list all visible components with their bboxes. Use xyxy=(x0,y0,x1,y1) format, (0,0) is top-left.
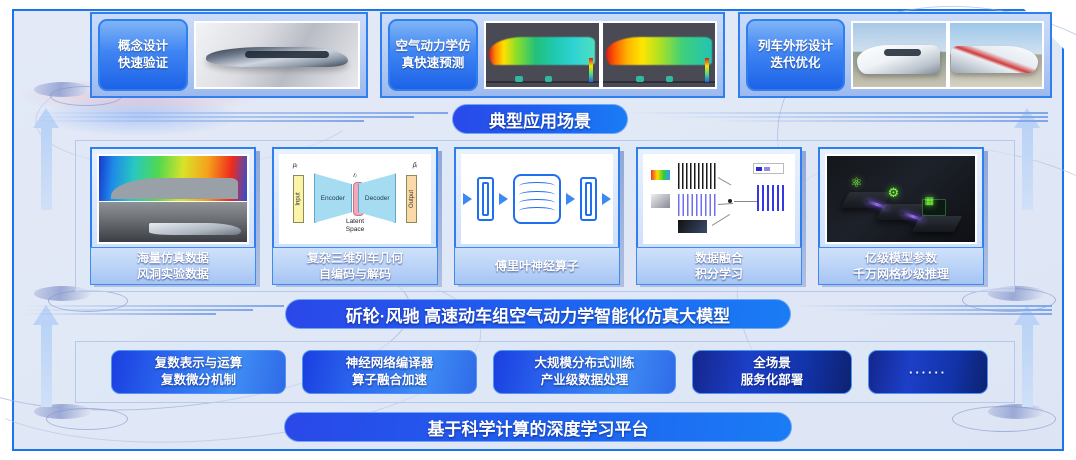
gear-icon: ⚙ xyxy=(888,185,900,201)
scenario-card-concept-design[interactable]: 概念设计 快速验证 xyxy=(90,12,368,98)
flow-arrow-up-left-upper xyxy=(33,108,59,210)
scenario-label-line1: 列车外形设计 xyxy=(758,38,833,55)
banner-deco-lines-right xyxy=(628,112,1048,122)
caption-line2: 千万网格秒级推理 xyxy=(853,266,949,282)
cfd-contour-image-1 xyxy=(486,23,599,87)
train-photo-2 xyxy=(950,23,1043,87)
cfd-contour-image-2 xyxy=(603,23,716,87)
arrow-right-icon xyxy=(602,193,611,205)
molecule-icon: ⚛ xyxy=(851,175,863,191)
scenario-card-shape-optimization[interactable]: 列车外形设计 迭代优化 xyxy=(738,12,1052,98)
capability-caption-fusion: 数据融合 积分学习 xyxy=(636,247,802,285)
arrow-right-icon xyxy=(499,193,508,205)
scenario-banner: 典型应用场景 xyxy=(452,104,628,134)
banner-deco-lines-left xyxy=(28,112,448,122)
autoencoder-symbol-latent: rⱼ xyxy=(353,171,356,179)
platform-chip-deployment[interactable]: 全场景 服务化部署 xyxy=(692,350,852,394)
capability-card-fno[interactable]: 傅里叶神经算子 xyxy=(454,147,624,287)
autoencoder-symbol-input: pᵢ xyxy=(293,162,297,169)
caption-line2: 积分学习 xyxy=(695,266,743,282)
application-scenarios-row: 概念设计 快速验证 空气动力学仿 真快速预测 xyxy=(90,12,1052,98)
fourier-operator-diagram xyxy=(461,154,613,244)
caption-line1: 亿级模型参数 xyxy=(865,250,937,266)
capability-caption-data: 海量仿真数据 风洞实验数据 xyxy=(90,247,256,285)
scenario-label-line1: 空气动力学仿 xyxy=(395,38,470,55)
scenario-label-line2: 真快速预测 xyxy=(402,55,465,72)
scenario-label-line2: 快速验证 xyxy=(118,55,168,72)
train-photo-1 xyxy=(853,23,946,87)
autoencoder-decoder-block: Decoder xyxy=(358,173,396,223)
platform-capability-row: 复数表示与运算 复数微分机制 神经网络编译器 算子融合加速 大规模分布式训练 产… xyxy=(75,341,1015,403)
ai-infrastructure-image: ⚛ ⚙ ▦ xyxy=(825,154,977,244)
arrow-right-icon xyxy=(463,193,472,205)
capability-caption-inference: 亿级模型参数 千万网格秒级推理 xyxy=(818,247,984,285)
chip-line1: 复数表示与运算 xyxy=(155,355,243,372)
model-banner-title: 斫轮·风驰 高速动车组空气动力学智能化仿真大模型 xyxy=(346,302,730,327)
autoencoder-input-block: Input xyxy=(293,175,304,223)
flow-arrow-up-right-lower xyxy=(1014,305,1040,407)
platform-banner-title: 基于科学计算的深度学习平台 xyxy=(428,415,649,440)
caption-line1: 傅里叶神经算子 xyxy=(495,258,579,274)
scenario-label-concept-design: 概念设计 快速验证 xyxy=(98,19,188,91)
capability-caption-autoencoder: 复杂三维列车几何 自编码与解码 xyxy=(272,247,438,285)
capability-card-data[interactable]: 海量仿真数据 风洞实验数据 xyxy=(90,147,260,287)
capability-caption-fno: 傅里叶神经算子 xyxy=(454,247,620,285)
ripple-ring xyxy=(46,408,128,430)
capability-card-inference[interactable]: ⚛ ⚙ ▦ 亿级模型参数 千万网格秒级推理 xyxy=(818,147,988,287)
scenario-banner-title: 典型应用场景 xyxy=(489,107,591,132)
fourier-wave-box xyxy=(513,174,561,224)
platform-chip-more[interactable]: ······ xyxy=(868,350,988,394)
autoencoder-latent-caption: Latent Space xyxy=(346,218,364,234)
scenario-label-line1: 概念设计 xyxy=(118,38,168,55)
fno-output-block xyxy=(580,177,597,221)
autoencoder-output-label: Output xyxy=(409,190,415,208)
cfd-wind-tunnel-image xyxy=(97,154,249,244)
fno-input-block xyxy=(477,177,494,221)
model-capability-row: 海量仿真数据 风洞实验数据 pᵢ rⱼ p̃ᵢ Input Encoder xyxy=(75,140,1015,292)
flow-arrow-up-right-upper xyxy=(1014,108,1040,210)
chip-line1: 全场景 xyxy=(753,355,791,372)
scenario-label-shape-optimization: 列车外形设计 迭代优化 xyxy=(746,19,845,91)
scenario-label-line2: 迭代优化 xyxy=(770,55,820,72)
autoencoder-diagram: pᵢ rⱼ p̃ᵢ Input Encoder Decoder Output xyxy=(279,154,431,244)
chart-icon: ▦ xyxy=(925,196,934,207)
model-banner-deco-right xyxy=(792,305,1052,315)
ellipsis-icon: ······ xyxy=(909,368,947,377)
infographic-root: 概念设计 快速验证 空气动力学仿 真快速预测 xyxy=(0,0,1076,460)
concept-train-render-image xyxy=(196,23,358,87)
autoencoder-encoder-block: Encoder xyxy=(314,173,352,223)
scenario-label-aero-prediction: 空气动力学仿 真快速预测 xyxy=(388,19,478,91)
model-banner-deco-left xyxy=(24,305,284,315)
model-banner: 斫轮·风驰 高速动车组空气动力学智能化仿真大模型 xyxy=(285,299,791,329)
scenario-image-shape-optimization xyxy=(851,21,1044,89)
caption-line2: 风洞实验数据 xyxy=(137,266,209,282)
chip-line2: 算子融合加速 xyxy=(352,372,427,389)
caption-line1: 复杂三维列车几何 xyxy=(307,250,403,266)
platform-chip-compiler[interactable]: 神经网络编译器 算子融合加速 xyxy=(302,350,477,394)
autoencoder-encoder-label: Encoder xyxy=(321,195,345,202)
scenario-image-concept-design xyxy=(194,21,360,89)
platform-chip-distributed-training[interactable]: 大规模分布式训练 产业级数据处理 xyxy=(493,350,676,394)
autoencoder-decoder-label: Decoder xyxy=(365,195,390,202)
data-fusion-diagram xyxy=(643,154,795,244)
chip-line1: 神经网络编译器 xyxy=(346,355,434,372)
caption-line1: 数据融合 xyxy=(695,250,743,266)
autoencoder-symbol-output: p̃ᵢ xyxy=(413,162,417,169)
chip-line2: 复数微分机制 xyxy=(161,372,236,389)
autoencoder-output-block: Output xyxy=(406,175,417,223)
scenario-image-aero-prediction xyxy=(484,21,717,89)
chip-line1: 大规模分布式训练 xyxy=(534,355,634,372)
scenario-card-aero-prediction[interactable]: 空气动力学仿 真快速预测 xyxy=(380,12,725,98)
platform-chip-complex-ops[interactable]: 复数表示与运算 复数微分机制 xyxy=(111,350,286,394)
arrow-right-icon xyxy=(566,193,575,205)
autoencoder-input-label: Input xyxy=(295,192,301,205)
capability-card-fusion[interactable]: 数据融合 积分学习 xyxy=(636,147,806,287)
chip-line2: 产业级数据处理 xyxy=(541,372,629,389)
caption-line2: 自编码与解码 xyxy=(319,266,391,282)
caption-line1: 海量仿真数据 xyxy=(137,250,209,266)
platform-banner: 基于科学计算的深度学习平台 xyxy=(284,412,792,442)
capability-card-autoencoder[interactable]: pᵢ rⱼ p̃ᵢ Input Encoder Decoder Output xyxy=(272,147,442,287)
chip-line2: 服务化部署 xyxy=(741,372,804,389)
ripple-ring xyxy=(952,406,1056,432)
flow-arrow-up-left-lower xyxy=(33,305,59,407)
latent-line2: Space xyxy=(346,226,364,234)
latent-line1: Latent xyxy=(346,218,364,226)
